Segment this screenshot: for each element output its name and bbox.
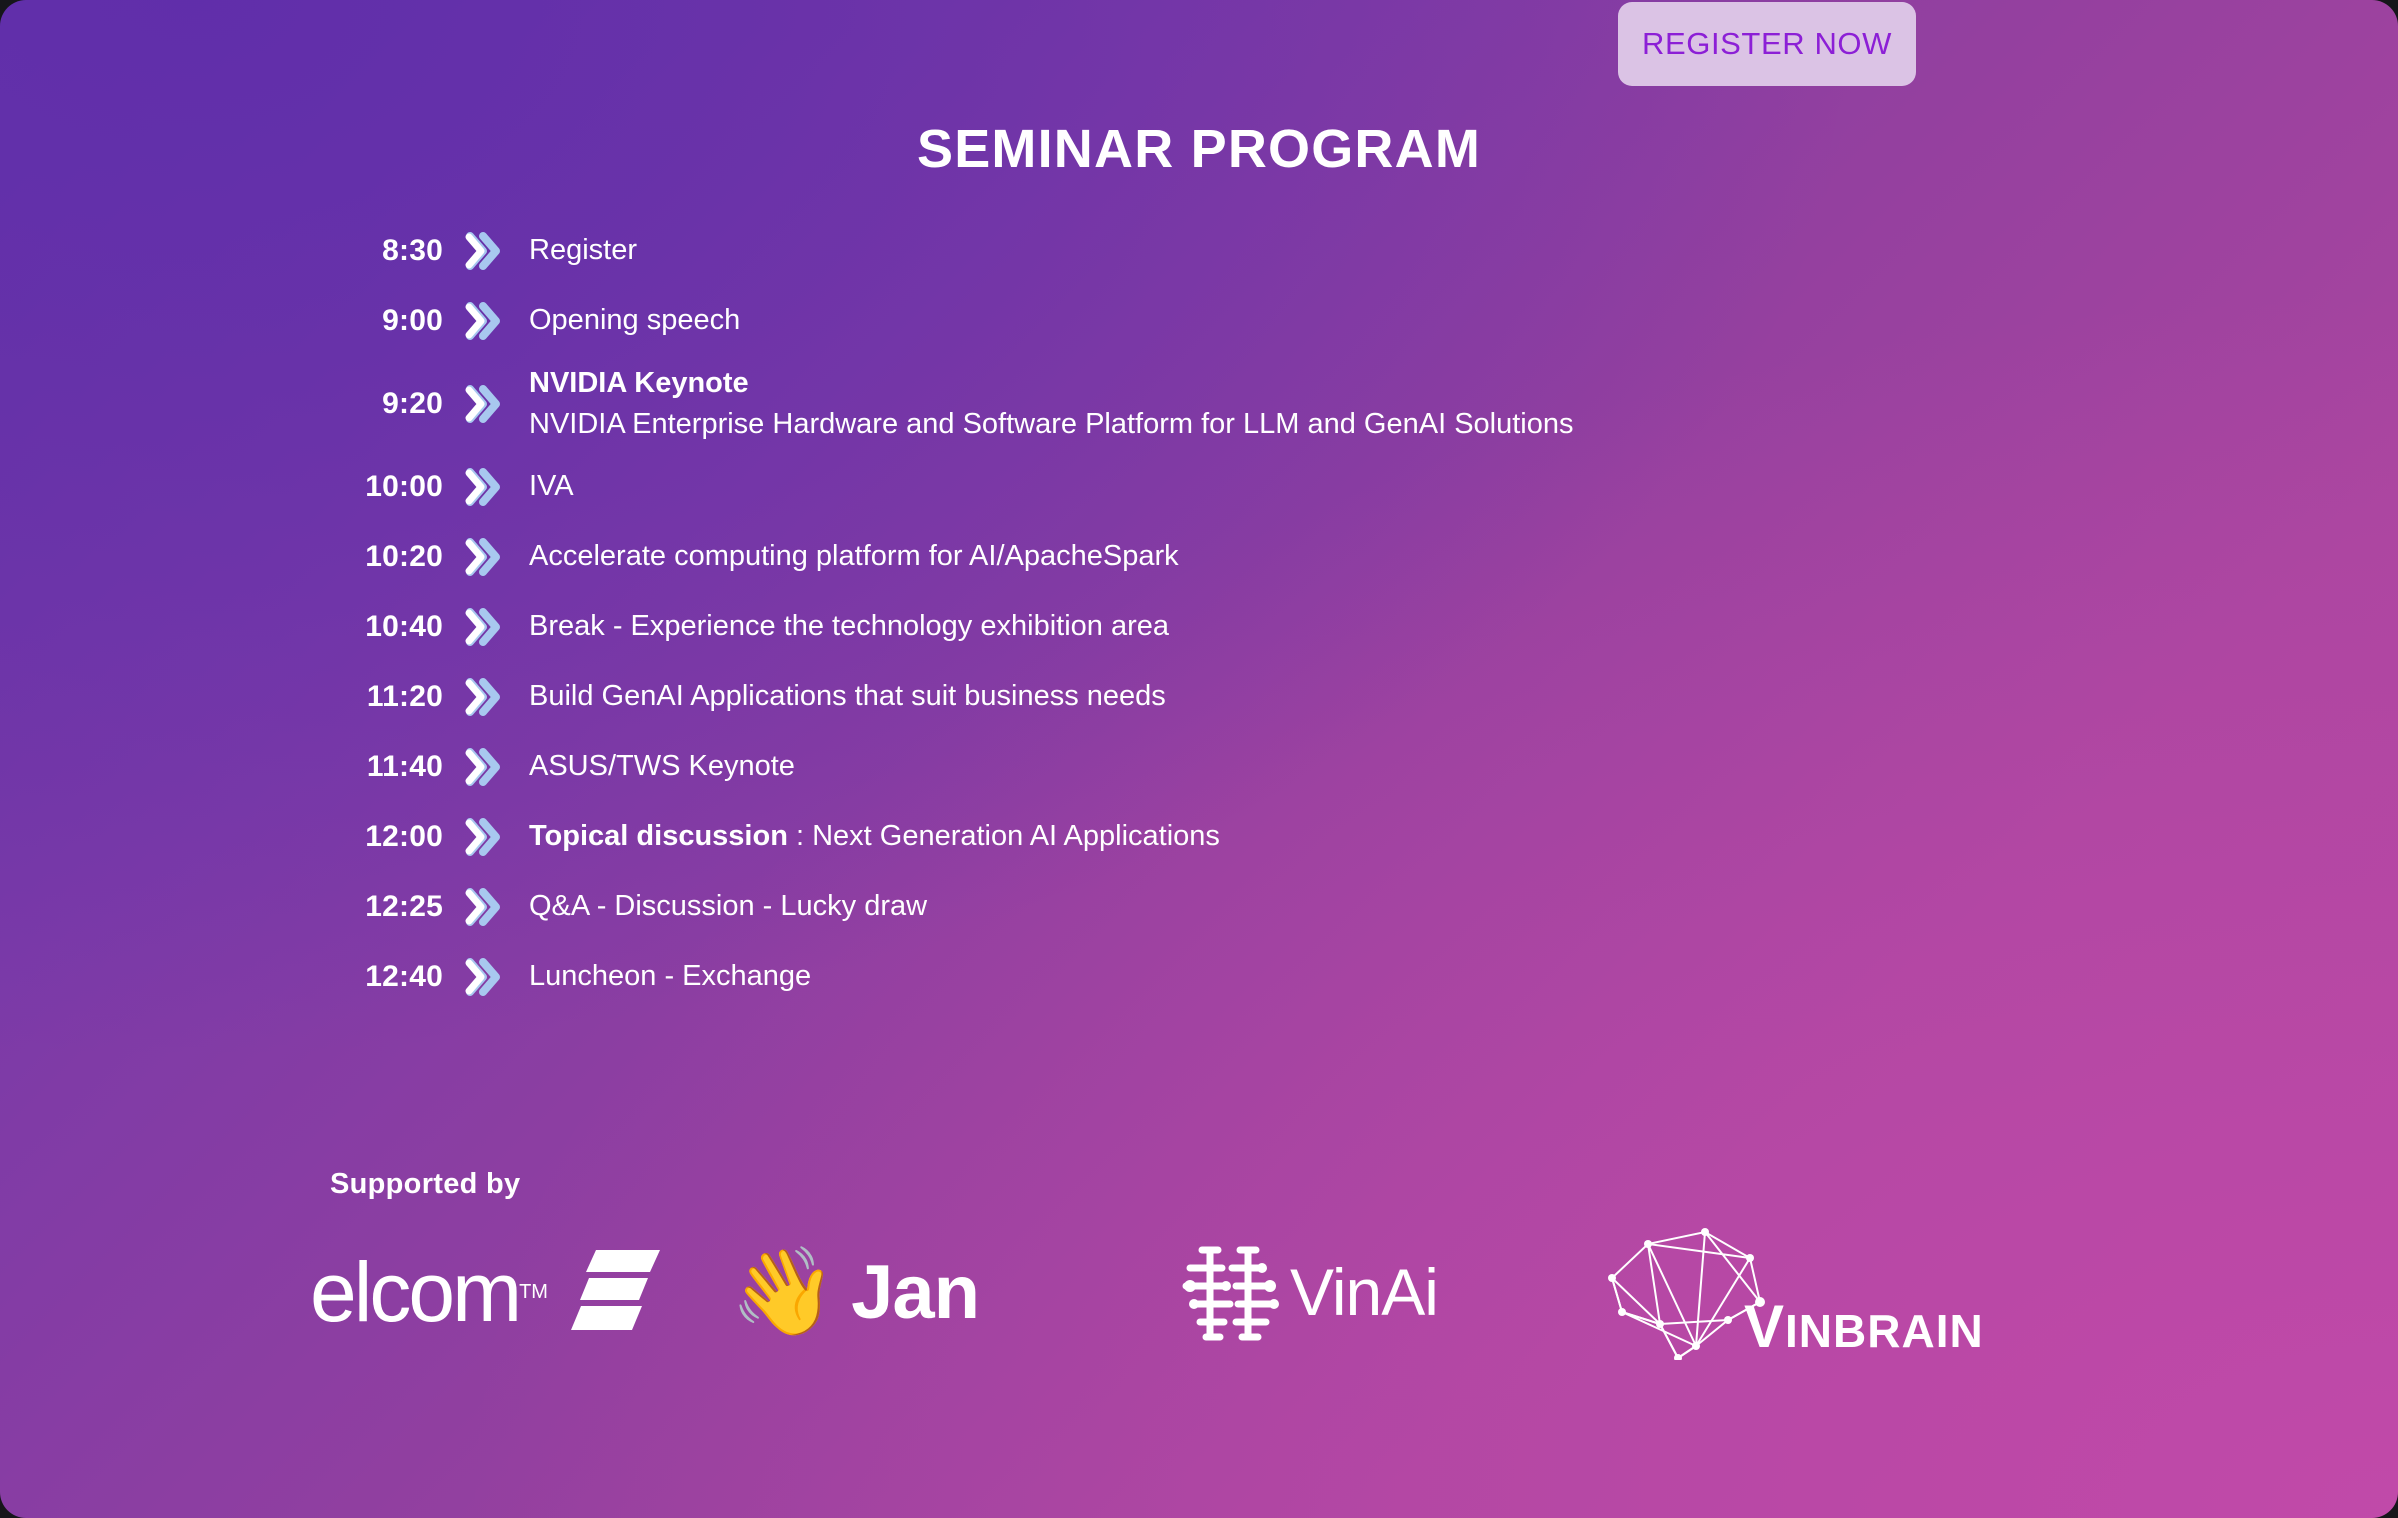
sponsor-logo-jan: 👋 Jan [730, 1249, 1180, 1336]
agenda-row-time: 10:40 [325, 610, 443, 644]
agenda-row: 8:30Register [325, 216, 2125, 286]
agenda-row-time: 11:20 [325, 680, 443, 714]
agenda-row-body: Opening speech [521, 300, 740, 341]
vinai-circuit-icon [1180, 1238, 1280, 1347]
agenda-row-title: IVA [529, 466, 574, 507]
double-chevron-icon [443, 817, 521, 857]
agenda-row-title-trailing: : Next Generation AI Applications [788, 820, 1220, 852]
agenda-row-time: 9:00 [325, 304, 443, 338]
vinai-wordmark: VinAi [1290, 1254, 1438, 1330]
agenda-row: 12:40Luncheon - Exchange [325, 942, 2125, 1012]
agenda-row-body: Topical discussion : Next Generation AI … [521, 816, 1220, 857]
agenda-row-title-text: Build GenAI Applications that suit busin… [529, 680, 1166, 712]
agenda-row-body: ASUS/TWS Keynote [521, 746, 795, 787]
double-chevron-icon [443, 747, 521, 787]
sponsor-logo-row: elcomTM 👋 Jan [310, 1212, 2210, 1372]
agenda-row-title: Luncheon - Exchange [529, 956, 811, 997]
agenda-row: 11:40ASUS/TWS Keynote [325, 732, 2125, 802]
agenda-row-time: 12:25 [325, 890, 443, 924]
sponsor-logo-vinai: VinAi [1180, 1238, 1600, 1347]
agenda-row: 9:00Opening speech [325, 286, 2125, 356]
elcom-wordmark: elcom [310, 1250, 519, 1334]
agenda-row-time: 10:00 [325, 470, 443, 504]
agenda-row: 10:40Break - Experience the technology e… [325, 592, 2125, 662]
agenda-row-title-text: Accelerate computing platform for AI/Apa… [529, 540, 1179, 572]
agenda-row: 10:20Accelerate computing platform for A… [325, 522, 2125, 592]
double-chevron-icon [443, 231, 521, 271]
double-chevron-icon [443, 537, 521, 577]
double-chevron-icon [443, 467, 521, 507]
agenda-row-title-text: NVIDIA Keynote [529, 367, 749, 399]
agenda-row-body: Break - Experience the technology exhibi… [521, 606, 1169, 647]
sponsor-logo-vinbrain: VINBRAIN [1600, 1220, 2000, 1365]
double-chevron-icon [443, 677, 521, 717]
agenda-row-time: 12:40 [325, 960, 443, 994]
agenda-row-body: Build GenAI Applications that suit busin… [521, 676, 1166, 717]
agenda-row-title-text: Break - Experience the technology exhibi… [529, 610, 1169, 642]
agenda-row-time: 11:40 [325, 750, 443, 784]
agenda-row-time: 9:20 [325, 387, 443, 421]
agenda-row-title-text: IVA [529, 470, 574, 502]
elcom-e-glyph-icon [570, 1248, 660, 1337]
agenda-row: 12:25Q&A - Discussion - Lucky draw [325, 872, 2125, 942]
waving-hand-icon: 👋 [730, 1249, 837, 1335]
supported-by-label: Supported by [330, 1168, 521, 1201]
agenda-row: 12:00Topical discussion : Next Generatio… [325, 802, 2125, 872]
elcom-tm-mark: TM [519, 1281, 548, 1304]
agenda-row-title: NVIDIA Keynote [529, 363, 1574, 404]
agenda-row-body: Q&A - Discussion - Lucky draw [521, 886, 927, 927]
agenda-row-time: 10:20 [325, 540, 443, 574]
agenda-row-time: 8:30 [325, 234, 443, 268]
seminar-program-page: REGISTER NOW SEMINAR PROGRAM 8:30Registe… [0, 0, 2398, 1518]
sponsor-logo-elcom: elcomTM [310, 1248, 730, 1337]
agenda-row-body: Register [521, 230, 637, 271]
double-chevron-icon [443, 957, 521, 997]
vinbrain-wordmark: VINBRAIN [1744, 1292, 1984, 1361]
agenda-row-title-text: Luncheon - Exchange [529, 960, 811, 992]
agenda-list: 8:30Register9:00Opening speech9:20NVIDIA… [325, 216, 2125, 1012]
agenda-row: 10:00IVA [325, 452, 2125, 522]
agenda-row-title-text: Q&A - Discussion - Lucky draw [529, 890, 927, 922]
agenda-row-title-text: Register [529, 234, 637, 266]
agenda-row-title: Opening speech [529, 300, 740, 341]
agenda-row-subtitle: NVIDIA Enterprise Hardware and Software … [529, 404, 1574, 445]
agenda-row-body: NVIDIA KeynoteNVIDIA Enterprise Hardware… [521, 363, 1574, 445]
double-chevron-icon [443, 607, 521, 647]
agenda-row-title: Register [529, 230, 637, 271]
agenda-row-body: Luncheon - Exchange [521, 956, 811, 997]
agenda-row-title-text: Topical discussion [529, 820, 788, 852]
double-chevron-icon [443, 301, 521, 341]
agenda-row: 9:20NVIDIA KeynoteNVIDIA Enterprise Hard… [325, 356, 2125, 452]
double-chevron-icon [443, 384, 521, 424]
agenda-row-time: 12:00 [325, 820, 443, 854]
agenda-row-title: Q&A - Discussion - Lucky draw [529, 886, 927, 927]
agenda-row-body: IVA [521, 466, 574, 507]
agenda-row-body: Accelerate computing platform for AI/Apa… [521, 536, 1179, 577]
agenda-row-title: Topical discussion : Next Generation AI … [529, 816, 1220, 857]
page-title: SEMINAR PROGRAM [0, 118, 2398, 180]
agenda-row: 11:20Build GenAI Applications that suit … [325, 662, 2125, 732]
agenda-row-title: ASUS/TWS Keynote [529, 746, 795, 787]
jan-wordmark: Jan [851, 1249, 979, 1336]
agenda-row-title: Accelerate computing platform for AI/Apa… [529, 536, 1179, 577]
agenda-row-title-text: ASUS/TWS Keynote [529, 750, 795, 782]
double-chevron-icon [443, 887, 521, 927]
register-now-button[interactable]: REGISTER NOW [1618, 2, 1916, 86]
agenda-row-title-text: Opening speech [529, 304, 740, 336]
agenda-row-title: Build GenAI Applications that suit busin… [529, 676, 1166, 717]
agenda-row-title: Break - Experience the technology exhibi… [529, 606, 1169, 647]
